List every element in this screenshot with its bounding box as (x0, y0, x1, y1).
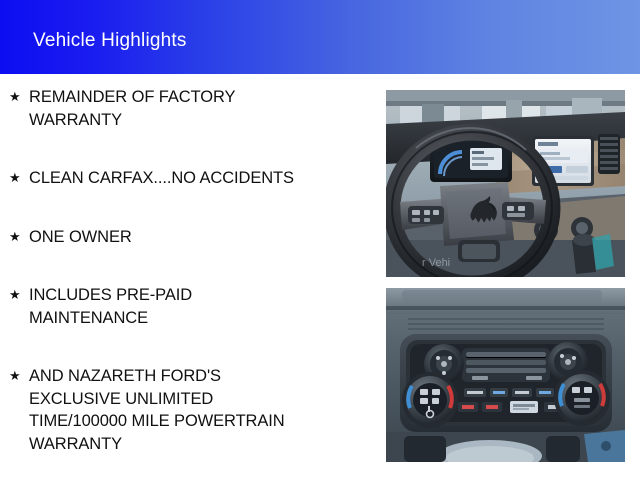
vehicle-photo-steering-wheel: r Vehi (386, 90, 625, 277)
list-item: ★ INCLUDES PRE-PAID MAINTENANCE (0, 284, 375, 329)
list-item: ★ AND NAZARETH FORD'S EXCLUSIVE UNLIMITE… (0, 365, 375, 455)
list-item-label: CLEAN CARFAX....NO ACCIDENTS (29, 167, 294, 190)
list-item-label: INCLUDES PRE-PAID MAINTENANCE (29, 284, 192, 329)
list-item-label: AND NAZARETH FORD'S EXCLUSIVE UNLIMITED … (29, 365, 285, 455)
star-icon: ★ (9, 167, 29, 189)
steering-wheel-illustration: r Vehi (386, 90, 625, 277)
star-icon: ★ (9, 365, 29, 387)
svg-text:r Vehi: r Vehi (422, 257, 450, 269)
vehicle-highlights-list: ★ REMAINDER OF FACTORY WARRANTY ★ CLEAN … (0, 86, 375, 491)
list-item: ★ REMAINDER OF FACTORY WARRANTY (0, 86, 375, 131)
star-icon: ★ (9, 86, 29, 108)
list-item: ★ CLEAN CARFAX....NO ACCIDENTS (0, 167, 375, 190)
list-item: ★ ONE OWNER (0, 226, 375, 249)
page-title: Vehicle Highlights (33, 30, 187, 52)
star-icon: ★ (9, 284, 29, 306)
climate-controls-illustration (386, 288, 625, 462)
vehicle-photo-climate-controls (386, 288, 625, 462)
star-icon: ★ (9, 226, 29, 248)
list-item-label: ONE OWNER (29, 226, 132, 249)
list-item-label: REMAINDER OF FACTORY WARRANTY (29, 86, 235, 131)
page-header: Vehicle Highlights (0, 0, 640, 74)
